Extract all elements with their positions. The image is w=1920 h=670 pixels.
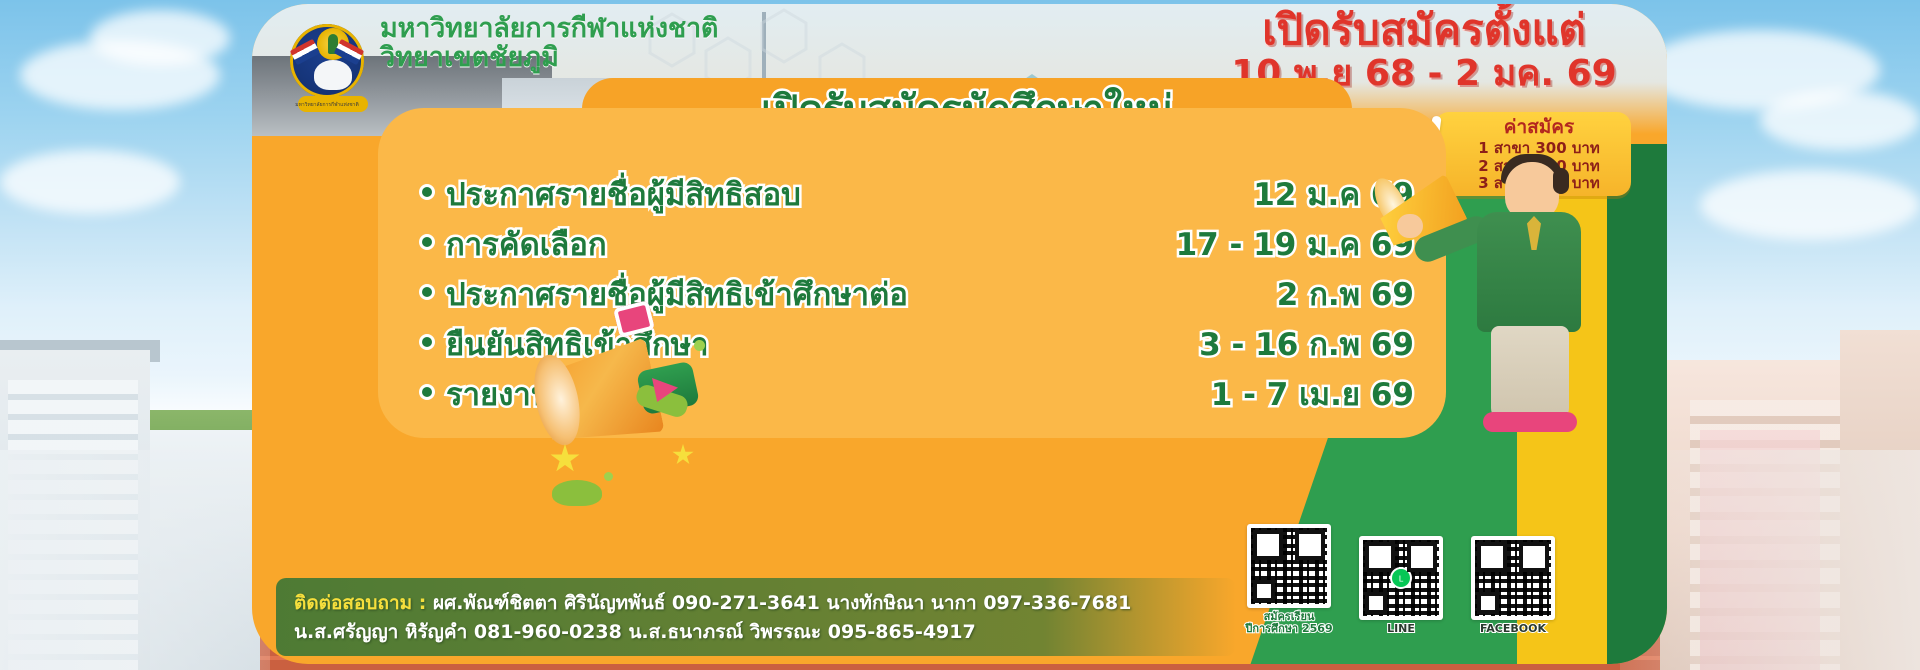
student-hair-side xyxy=(1553,168,1569,194)
bullet-icon xyxy=(422,187,432,197)
contact-line-1: ผศ.พัณฑ์ชิตตา ศิรินัญทพันธ์ 090-271-3641… xyxy=(426,592,1131,614)
qr-finder-icon xyxy=(1253,580,1275,602)
university-name: มหาวิทยาลัยการกีฬาแห่งชาติ วิทยาเขตชัยภู… xyxy=(380,14,800,73)
university-logo: มหาวิทยาลัยการกีฬาแห่งชาติ xyxy=(284,12,370,112)
bullet-icon xyxy=(422,387,432,397)
qr-code-group: สมัครเรียน ปีการศึกษา 2569 L LINE xyxy=(1243,524,1559,636)
qr-code-line-icon[interactable]: L xyxy=(1359,536,1443,620)
qr-caption-line1: FACEBOOK xyxy=(1467,623,1559,636)
student-legs xyxy=(1491,326,1569,422)
qr-item-apply[interactable]: สมัครเรียน ปีการศึกษา 2569 xyxy=(1243,524,1335,636)
photo-fade-left xyxy=(0,450,270,670)
schedule-label: การคัดเลือก xyxy=(446,230,607,261)
qr-item-facebook[interactable]: FACEBOOK xyxy=(1467,536,1559,636)
contact-label: ติดต่อสอบถาม : xyxy=(294,592,426,614)
qr-pattern xyxy=(1475,540,1551,616)
university-name-line2: วิทยาเขตชัยภูมิ xyxy=(380,43,800,73)
seal-flag-left-icon xyxy=(290,39,320,65)
cloud-shape xyxy=(90,10,230,66)
green-leaf-icon xyxy=(552,480,602,506)
footer-line-1: ติดต่อสอบถาม : ผศ.พัณฑ์ชิตตา ศิรินัญทพัน… xyxy=(294,589,1214,618)
bullet-icon xyxy=(422,237,432,247)
student-character xyxy=(1381,154,1611,454)
poster-card: NATIONAL SPORTS UNIVERSITY CHAIYAPHUM CA… xyxy=(252,4,1667,664)
qr-caption-line1: LINE xyxy=(1355,623,1447,636)
qr-item-line[interactable]: L LINE xyxy=(1355,536,1447,636)
qr-pattern: L xyxy=(1363,540,1439,616)
megaphone-decoration xyxy=(544,304,714,494)
student-hand xyxy=(1397,214,1423,238)
qr-caption-line2: ปีการศึกษา 2569 xyxy=(1243,623,1335,636)
cloud-shape xyxy=(0,150,180,214)
schedule-label: ประกาศรายชื่อผู้มีสิทธิสอบ xyxy=(446,180,801,211)
bullet-icon xyxy=(422,337,432,347)
pink-square-icon xyxy=(613,300,655,338)
schedule-date: 17 - 19 ม.ค 69 xyxy=(1176,230,1414,261)
fee-title: ค่าสมัคร xyxy=(1455,118,1623,138)
line-logo-icon: L xyxy=(1390,567,1412,589)
green-dot-icon xyxy=(604,472,613,481)
cloud-shape xyxy=(1700,170,1920,240)
cloud-shape xyxy=(1760,90,1920,150)
green-dot-icon xyxy=(694,340,705,351)
schedule-row: การคัดเลือก 17 - 19 ม.ค 69 xyxy=(422,230,1442,276)
qr-code-facebook-icon[interactable] xyxy=(1471,536,1555,620)
qr-code-apply-icon[interactable] xyxy=(1247,524,1331,608)
qr-pattern xyxy=(1251,528,1327,604)
star-icon xyxy=(672,444,694,466)
footer-line-2: น.ส.ศรัญญา หิรัญคำ 081-960-0238 น.ส.ธนาภ… xyxy=(294,618,1214,647)
schedule-row: ประกาศรายชื่อผู้มีสิทธิสอบ 12 ม.ค 69 xyxy=(422,180,1442,226)
footer-contact: ติดต่อสอบถาม : ผศ.พัณฑ์ชิตตา ศิรินัญทพัน… xyxy=(294,589,1214,646)
qr-finder-icon xyxy=(1477,592,1499,614)
star-icon xyxy=(550,444,580,474)
seal-elephant-icon xyxy=(314,60,352,90)
qr-finder-icon xyxy=(1365,592,1387,614)
student-shoes xyxy=(1483,412,1577,432)
svg-text:L: L xyxy=(1399,575,1404,584)
bullet-icon xyxy=(422,287,432,297)
application-open-label: เปิดรับสมัครตั้งแต่ xyxy=(1209,8,1639,52)
logo-caption: มหาวิทยาลัยการกีฬาแห่งชาติ xyxy=(294,100,360,110)
university-seal-icon xyxy=(290,24,364,98)
university-name-line1: มหาวิทยาลัยการกีฬาแห่งชาติ xyxy=(380,14,800,43)
